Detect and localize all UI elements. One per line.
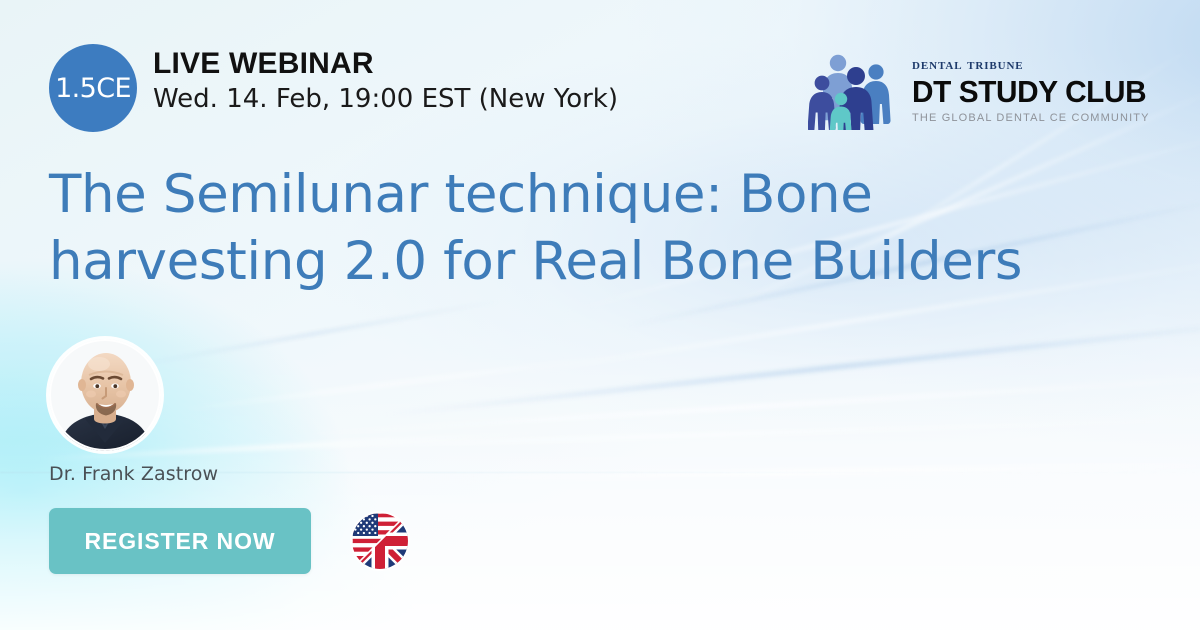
header-text-block: LIVE WEBINAR Wed. 14. Feb, 19:00 EST (Ne… — [153, 44, 618, 116]
register-now-label: REGISTER NOW — [85, 528, 276, 555]
logo-text-block: Dental Tribune DT STUDY CLUB THE GLOBAL … — [912, 56, 1156, 123]
header: 1.5CE LIVE WEBINAR Wed. 14. Feb, 19:00 E… — [49, 44, 618, 132]
dt-study-club-logo: Dental Tribune DT STUDY CLUB THE GLOBAL … — [808, 50, 1156, 130]
page-title: The Semilunar technique: Bone harvesting… — [49, 162, 1169, 296]
speaker-block: Dr. Frank Zastrow — [49, 339, 218, 485]
speaker-name: Dr. Frank Zastrow — [49, 463, 218, 485]
cta-row: REGISTER NOW — [49, 508, 408, 574]
title-line-2: harvesting 2.0 for Real Bone Builders — [49, 229, 1169, 296]
event-type-label: LIVE WEBINAR — [153, 47, 618, 81]
brand-tagline: THE GLOBAL DENTAL CE COMMUNITY — [912, 113, 1156, 124]
title-line-1: The Semilunar technique: Bone — [49, 162, 1169, 229]
event-datetime-label: Wed. 14. Feb, 19:00 EST (New York) — [153, 83, 618, 117]
brand-name: DT STUDY CLUB — [912, 75, 1146, 108]
register-now-button[interactable]: REGISTER NOW — [49, 508, 311, 574]
ce-credits-badge: 1.5CE — [49, 44, 137, 132]
ce-credits-label: 1.5CE — [55, 73, 131, 104]
avatar — [49, 339, 161, 451]
people-group-icon — [808, 50, 904, 130]
publisher-name: Dental Tribune — [912, 58, 1156, 73]
us-uk-flag-icon[interactable] — [352, 513, 408, 569]
